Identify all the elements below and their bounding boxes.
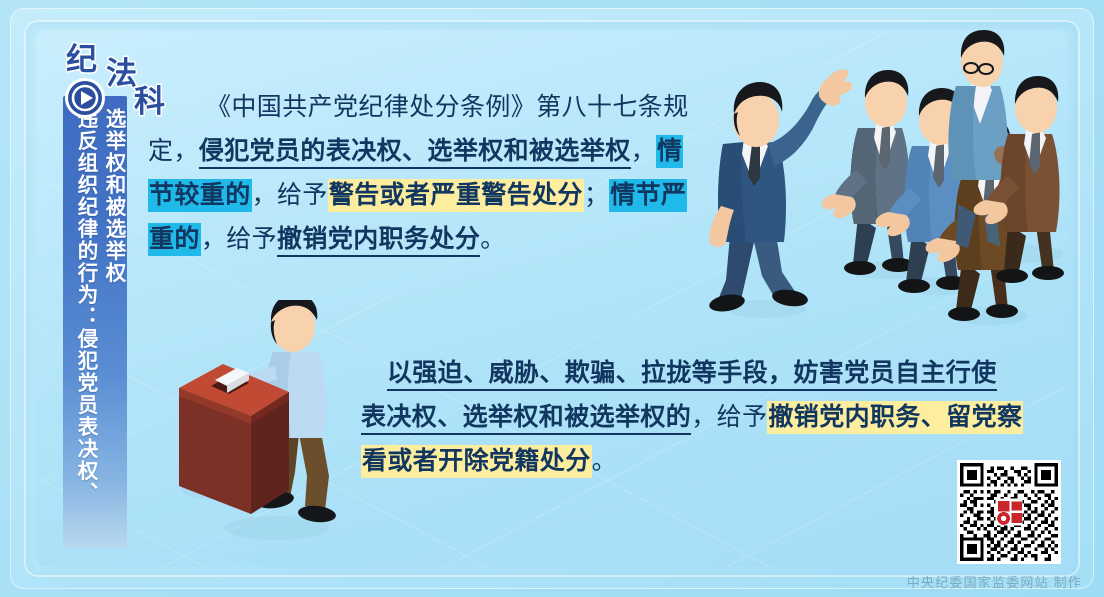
p1-line-3: 节较重的，给予警告或者严重警告处分；情节严 (148, 174, 689, 218)
illustration-people-group (690, 28, 1090, 338)
producer-credit: 中央纪委国家监委网站 制作 (907, 572, 1082, 591)
p1-line-4: 重的，给予撤销党内职务处分。 (148, 218, 689, 262)
p1-l2-seg4: 情 (656, 135, 683, 168)
p1-l3-seg5: 情节严 (609, 179, 687, 212)
logo-char-fa: 法 (106, 56, 137, 91)
p1-l3-seg4: ； (584, 182, 609, 209)
p2-l3-seg2: 。 (592, 448, 617, 475)
banner-column-left: 违反组织纪律的行为：侵犯党员表决权、 (67, 108, 95, 548)
p1-line-2: 定，侵犯党员的表决权、选举权和被选举权，情 (148, 130, 689, 174)
p2-l2-seg1: 表决权、选举权和被选举权的 (361, 404, 691, 435)
logo-play-badge (65, 78, 105, 118)
p1-l2-seg1: 定， (148, 138, 199, 165)
banner-column-right: 选举权和被选举权 (95, 108, 123, 548)
logo-char-ji: 纪 (66, 42, 97, 77)
vertical-title-banner: 选举权和被选举权 违反组织纪律的行为：侵犯党员表决权、 (63, 96, 127, 548)
regulation-paragraph-2: 以强迫、威胁、欺骗、拉拢等手段，妨害党员自主行使 表决权、选举权和被选举权的，给… (387, 352, 1023, 484)
p1-l3-seg2: ，给予 (252, 182, 328, 209)
qr-code[interactable] (957, 460, 1061, 564)
p2-l3-seg1: 看或者开除党籍处分 (361, 445, 592, 478)
p1-l3-seg3: 警告或者严重警告处分 (328, 179, 584, 212)
p2-line-2: 表决权、选举权和被选举权的，给予撤销党内职务、留党察 (361, 396, 1023, 440)
brand-logo: 纪 法 科 (52, 36, 172, 122)
illustration-ballot-box (165, 300, 365, 552)
logo-char-ke: 科 (134, 84, 165, 119)
p2-l1-seg1: 以强迫、威胁、欺骗、拉拢等手段，妨害党员自主行使 (387, 360, 997, 391)
p1-l4-seg1: 重的 (148, 223, 201, 256)
p1-l2-seg3: ， (631, 138, 656, 165)
p1-l2-seg2: 侵犯党员的表决权、选举权和被选举权 (199, 138, 631, 169)
p1-l4-seg2: ，给予 (201, 226, 277, 253)
p1-l4-seg4: 。 (480, 226, 505, 253)
p2-line-3: 看或者开除党籍处分。 (361, 440, 1023, 484)
regulation-paragraph-1: 《中国共产党纪律处分条例》第八十七条规 定，侵犯党员的表决权、选举权和被选举权，… (148, 86, 689, 262)
p1-l3-seg1: 节较重的 (148, 179, 252, 212)
p2-l2-seg2: ，给予 (691, 404, 767, 431)
poster-canvas: 纪 法 科 选举权和被选举权 违反组织纪律的行为：侵犯党员表决权、 《中国共产党… (0, 0, 1104, 597)
p2-l2-seg3: 撤销党内职务、留党察 (767, 401, 1023, 434)
p1-l1-seg1: 《中国共产党纪律处分条例》第八十七条规 (148, 94, 689, 121)
p1-line-1: 《中国共产党纪律处分条例》第八十七条规 (148, 86, 689, 130)
p1-l4-seg3: 撤销党内职务处分 (277, 226, 480, 257)
p2-line-1: 以强迫、威胁、欺骗、拉拢等手段，妨害党员自主行使 (387, 352, 1023, 396)
